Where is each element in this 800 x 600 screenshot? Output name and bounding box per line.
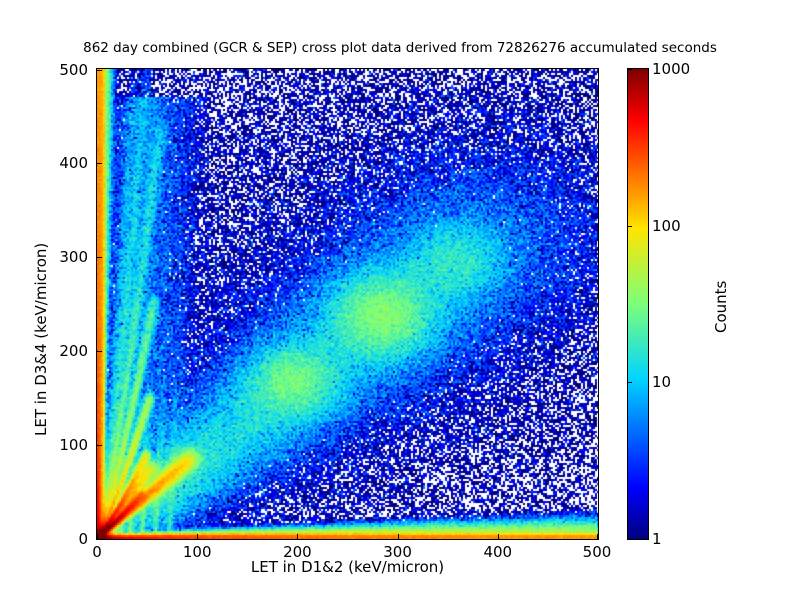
- colorbar-tick-label: 1000: [652, 60, 690, 78]
- colorbar-tick: [628, 382, 632, 383]
- colorbar-tick: [628, 226, 632, 227]
- colorbar-gradient: [628, 69, 648, 539]
- y-tick: [97, 351, 102, 352]
- y-tick: [97, 445, 102, 446]
- colorbar-tick-label: 100: [652, 217, 681, 235]
- colorbar-tick: [628, 539, 632, 540]
- y-tick: [97, 257, 102, 258]
- y-tick: [97, 70, 102, 71]
- y-tick: [97, 163, 102, 164]
- y-tick-label: 500: [28, 61, 88, 79]
- x-axis-label: LET in D1&2 (keV/micron): [96, 558, 599, 576]
- x-tick: [398, 534, 399, 539]
- y-axis-label: LET in D3&4 (keV/micron): [32, 243, 50, 436]
- density-scatter-canvas: [97, 69, 598, 539]
- colorbar-tick-label: 10: [652, 373, 671, 391]
- colorbar-tick-label: 1: [652, 530, 662, 548]
- x-tick: [297, 534, 298, 539]
- x-tick: [498, 534, 499, 539]
- figure-title-line-1: 862 day combined (GCR & SEP) cross plot …: [0, 40, 800, 57]
- plot-area: [96, 68, 599, 540]
- x-tick: [197, 534, 198, 539]
- y-tick-label: 400: [28, 154, 88, 172]
- colorbar-label: Counts: [712, 281, 730, 333]
- y-tick-label: 100: [28, 436, 88, 454]
- y-tick: [97, 539, 102, 540]
- x-tick: [597, 534, 598, 539]
- figure-container: 862 day combined (GCR & SEP) cross plot …: [0, 0, 800, 600]
- y-tick-label: 0: [28, 530, 88, 548]
- colorbar: [627, 68, 649, 540]
- colorbar-tick: [628, 69, 632, 70]
